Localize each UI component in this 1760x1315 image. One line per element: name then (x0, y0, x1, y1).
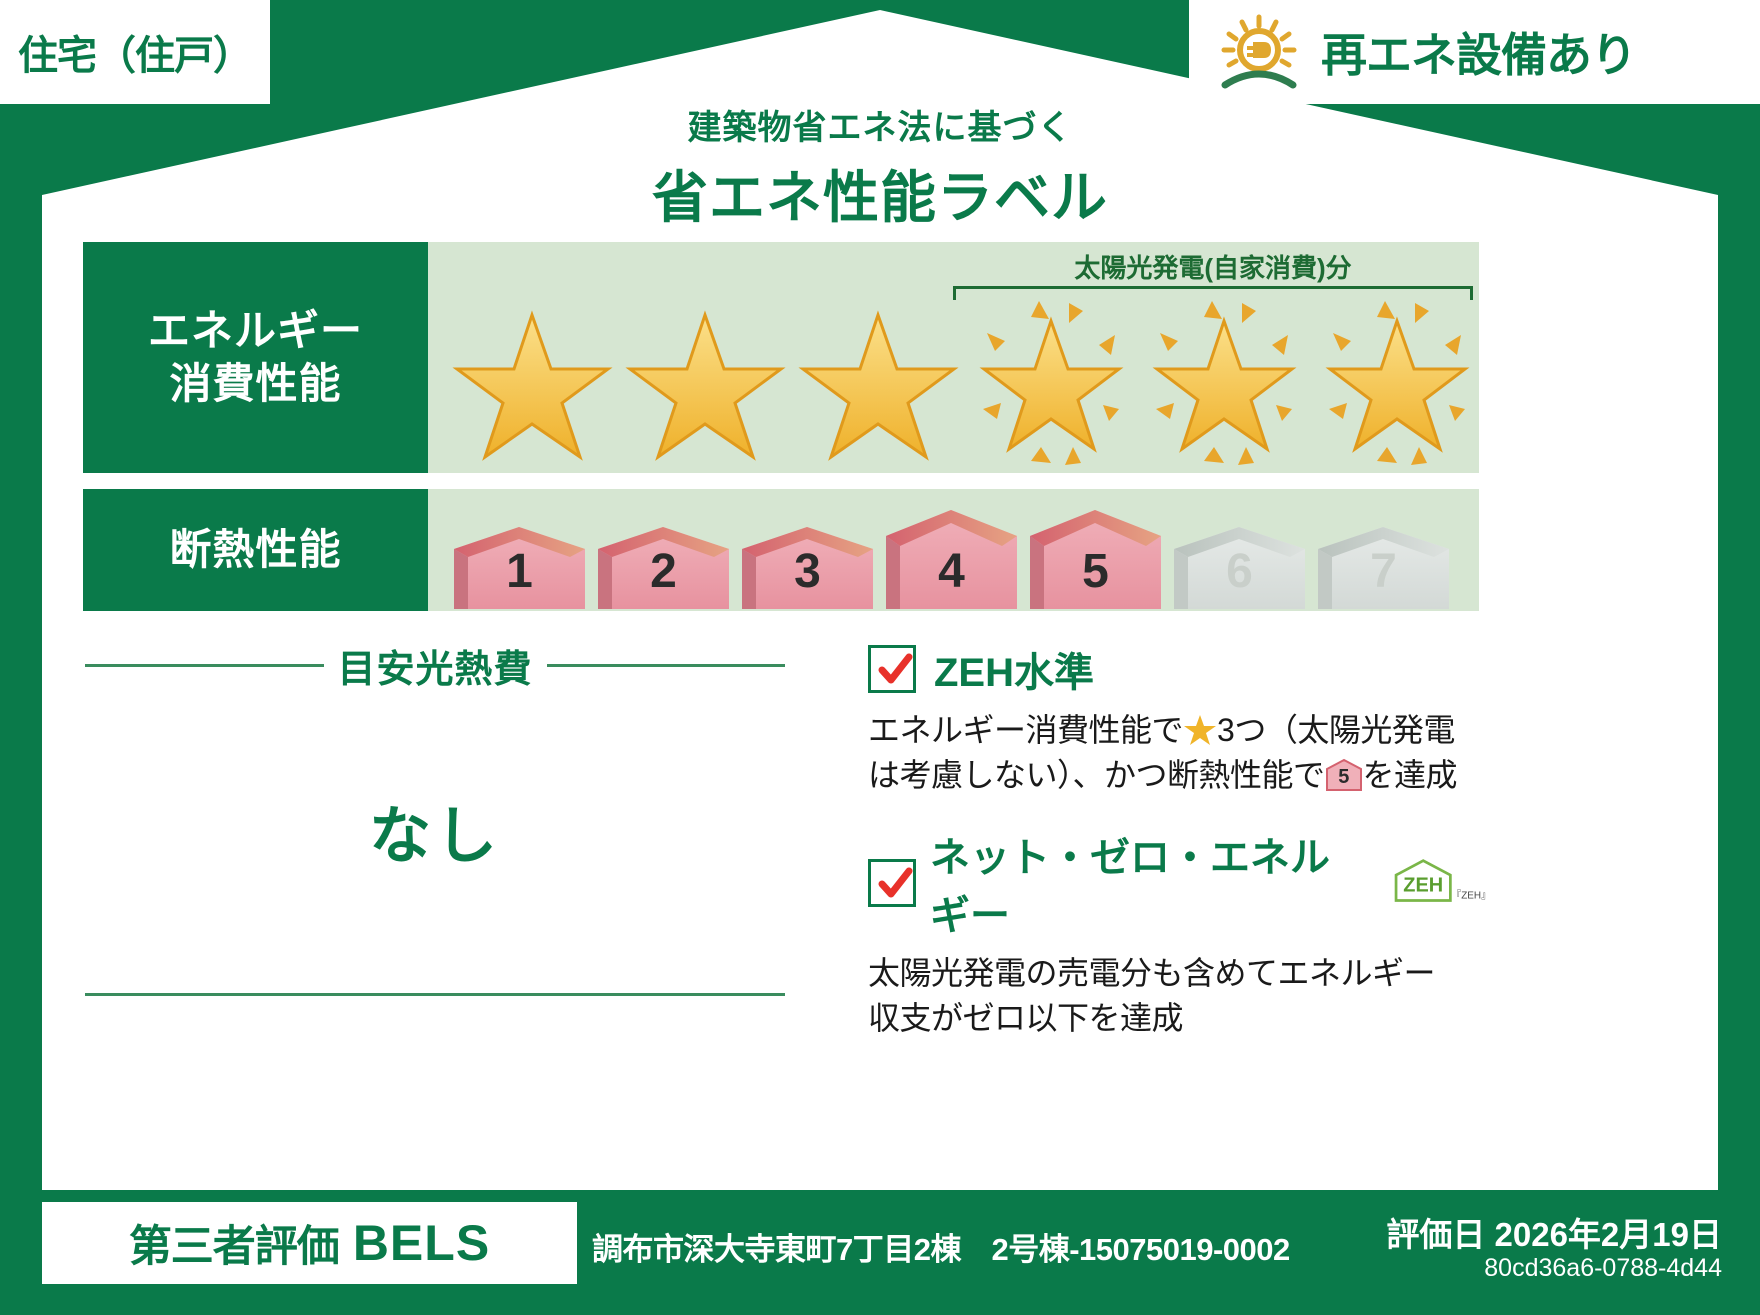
insulation-house-2: 2 (594, 525, 733, 611)
utility-cost-heading-text: 目安光熱費 (338, 638, 533, 693)
insulation-level-number: 7 (1314, 544, 1453, 599)
star-icon (623, 297, 788, 467)
zeh-standard-item: ZEH水準 エネルギー消費性能で3つ（太陽光発電 は考慮しない）、かつ断熱性能で… (868, 640, 1488, 799)
title-block: 建築物省エネ法に基づく 省エネ性能ラベル (0, 100, 1760, 234)
energy-performance-label: エネルギー 消費性能 (83, 242, 428, 473)
evaluation-date-label: 評価日 (1386, 1216, 1485, 1253)
star-icon-solar (969, 297, 1134, 467)
zeh-standard-description: エネルギー消費性能で3つ（太陽光発電 は考慮しない）、かつ断熱性能で5を達成 (868, 708, 1488, 799)
star-icon-inline (1183, 713, 1217, 747)
title-main: 省エネ性能ラベル (0, 153, 1760, 234)
star-icon-solar (1142, 297, 1307, 467)
net-zero-energy-description: 太陽光発電の売電分も含めてエネルギー 収支がゼロ以下を達成 (868, 951, 1488, 1042)
utility-cost-block: 目安光熱費 なし (85, 638, 785, 996)
zeh-desc-part3: は考慮しない）、かつ断熱性能で (868, 757, 1325, 793)
insulation-level-number: 2 (594, 544, 733, 599)
solar-generation-note: 太陽光発電(自家消費)分 (953, 248, 1473, 285)
evaluation-date: 評価日 2026年2月19日 (1386, 1208, 1722, 1256)
insulation-house-1: 1 (450, 525, 589, 611)
title-subtitle: 建築物省エネ法に基づく (0, 100, 1760, 149)
insulation-level-number: 5 (1026, 544, 1165, 599)
insulation-house-6: 6 (1170, 525, 1309, 611)
evaluation-date-value: 2026年2月19日 (1495, 1216, 1722, 1253)
svg-text:『ZEH』: 『ZEH』 (1451, 890, 1488, 902)
renewable-equipment-badge: 再エネ設備あり (1189, 0, 1760, 104)
building-type-badge: 住宅（住戸） (0, 0, 270, 104)
zeh-standard-header: ZEH水準 (868, 640, 1488, 698)
evaluation-uuid: 80cd36a6-0788-4d44 (1484, 1254, 1722, 1283)
utility-cost-bottom-rule (85, 993, 785, 996)
insulation-house-3: 3 (738, 525, 877, 611)
insulation-badge-number: 5 (1325, 758, 1363, 792)
insulation-scale: 1 2 3 (428, 489, 1479, 611)
bels-badge: 第三者評価 BELS (42, 1202, 577, 1284)
zeh-desc-part1: エネルギー消費性能で (868, 712, 1183, 748)
bels-en-label: BELS (353, 1214, 490, 1272)
energy-performance-row: エネルギー 消費性能 太陽光発電(自家消費)分 (83, 242, 1479, 473)
net-zero-energy-item: ネット・ゼロ・エネルギー ZEH 『ZEH』 太陽光発電の売電分も含めてエネルギ… (868, 825, 1488, 1042)
bels-jp-label: 第三者評価 (129, 1212, 339, 1274)
checkbox-checked-icon[interactable] (868, 859, 916, 907)
nze-desc-line2: 収支がゼロ以下を達成 (868, 1000, 1183, 1036)
zeh-desc-part2: 3つ（太陽光発電 (1217, 712, 1455, 748)
utility-cost-value: なし (85, 785, 785, 875)
star-icon (796, 297, 961, 467)
energy-performance-body: 太陽光発電(自家消費)分 (428, 242, 1479, 473)
insulation-level-number: 3 (738, 544, 877, 599)
utility-cost-heading: 目安光熱費 (85, 638, 785, 693)
insulation-label-text: 断熱性能 (169, 524, 341, 577)
star-icon-solar (1315, 297, 1480, 467)
nze-desc-line1: 太陽光発電の売電分も含めてエネルギー (868, 955, 1435, 991)
svg-text:ZEH: ZEH (1403, 874, 1443, 896)
building-type-label: 住宅（住戸） (18, 23, 252, 81)
checkbox-checked-icon[interactable] (868, 645, 916, 693)
insulation-house-7: 7 (1314, 525, 1453, 611)
insulation-badge-inline: 5 (1325, 758, 1363, 792)
footer: 第三者評価 BELS 調布市深大寺東町7丁目2棟 2号棟-15075019-00… (0, 1190, 1760, 1315)
net-zero-energy-header: ネット・ゼロ・エネルギー ZEH 『ZEH』 (868, 825, 1488, 941)
insulation-level-number: 4 (882, 544, 1021, 599)
net-zero-energy-title: ネット・ゼロ・エネルギー (930, 825, 1365, 941)
zeh-desc-part4: を達成 (1363, 757, 1458, 793)
insulation-house-5: 5 (1026, 508, 1165, 611)
divider-right (547, 664, 786, 667)
insulation-level-number: 1 (450, 544, 589, 599)
solar-energy-icon (1215, 13, 1303, 91)
zeh-block: ZEH水準 エネルギー消費性能で3つ（太陽光発電 は考慮しない）、かつ断熱性能で… (868, 640, 1488, 1048)
insulation-performance-body: 1 2 3 (428, 489, 1479, 611)
renewable-equipment-label: 再エネ設備あり (1321, 19, 1636, 85)
star-rating (428, 290, 1479, 473)
insulation-performance-label: 断熱性能 (83, 489, 428, 611)
divider-left (85, 664, 324, 667)
insulation-performance-row: 断熱性能 1 (83, 489, 1479, 611)
star-icon (450, 297, 615, 467)
zeh-logo-icon: ZEH 『ZEH』 (1387, 857, 1488, 909)
energy-label-line2: 消費性能 (169, 358, 341, 411)
energy-label-line1: エネルギー (148, 305, 363, 358)
zeh-standard-title: ZEH水準 (934, 640, 1094, 698)
insulation-house-4: 4 (882, 508, 1021, 611)
property-address: 調布市深大寺東町7丁目2棟 2号棟-15075019-0002 (592, 1224, 1290, 1269)
label-root: 住宅（住戸） (0, 0, 1760, 1315)
insulation-level-number: 6 (1170, 544, 1309, 599)
